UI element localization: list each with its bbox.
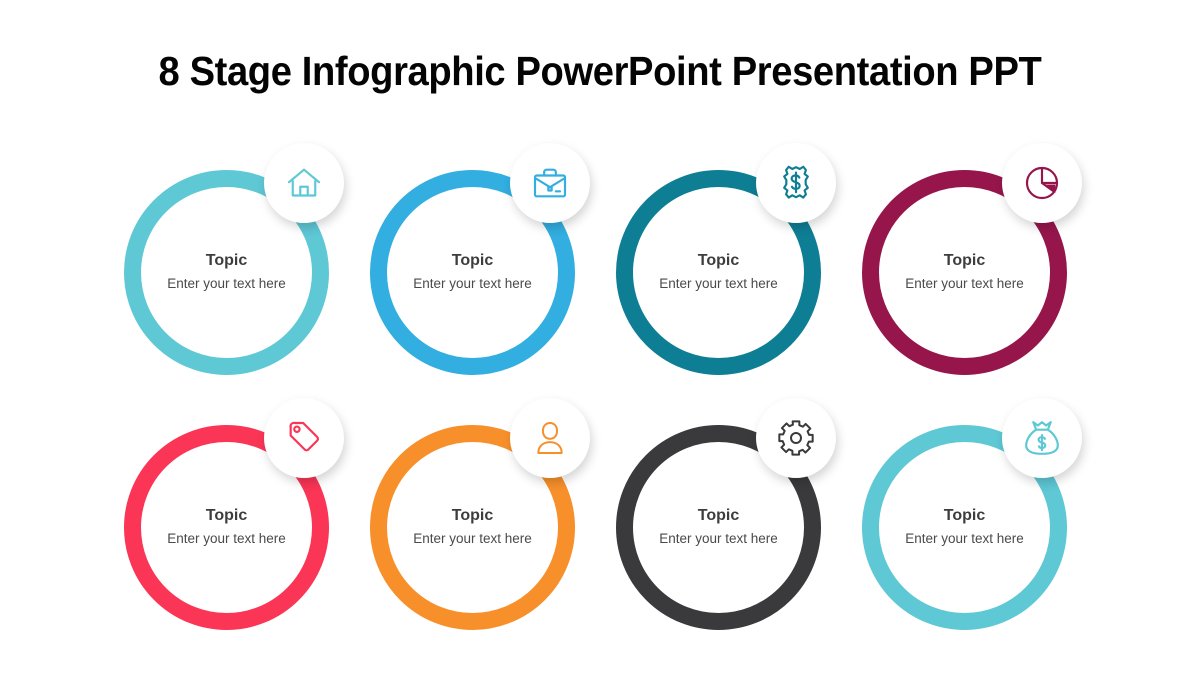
stage-badge-4[interactable] [1002, 143, 1082, 223]
stage-item-7[interactable]: Topic Enter your text here [604, 398, 850, 653]
pie-chart-icon [1022, 163, 1062, 203]
briefcase-icon [530, 163, 570, 203]
stage-item-2[interactable]: Topic Enter your text here [358, 143, 604, 398]
stage-item-3[interactable]: Topic Enter your text here [604, 143, 850, 398]
stage-grid: Topic Enter your text here Topic Enter y… [112, 143, 1097, 638]
home-icon [284, 163, 324, 203]
stage-badge-8[interactable] [1002, 398, 1082, 478]
money-bag-icon [1022, 418, 1062, 458]
price-tag-icon [284, 418, 324, 458]
stage-item-8[interactable]: Topic Enter your text here [850, 398, 1096, 653]
stage-badge-6[interactable] [510, 398, 590, 478]
user-icon [530, 418, 570, 458]
stage-badge-7[interactable] [756, 398, 836, 478]
stage-item-5[interactable]: Topic Enter your text here [112, 398, 358, 653]
stage-item-1[interactable]: Topic Enter your text here [112, 143, 358, 398]
stage-item-6[interactable]: Topic Enter your text here [358, 398, 604, 653]
stage-badge-2[interactable] [510, 143, 590, 223]
gear-dollar-icon [776, 163, 816, 203]
page-title: 8 Stage Infographic PowerPoint Presentat… [42, 48, 1158, 95]
stage-item-4[interactable]: Topic Enter your text here [850, 143, 1096, 398]
infographic-slide: 8 Stage Infographic PowerPoint Presentat… [0, 0, 1200, 675]
gear-icon [776, 418, 816, 458]
stage-badge-1[interactable] [264, 143, 344, 223]
stage-badge-3[interactable] [756, 143, 836, 223]
stage-badge-5[interactable] [264, 398, 344, 478]
